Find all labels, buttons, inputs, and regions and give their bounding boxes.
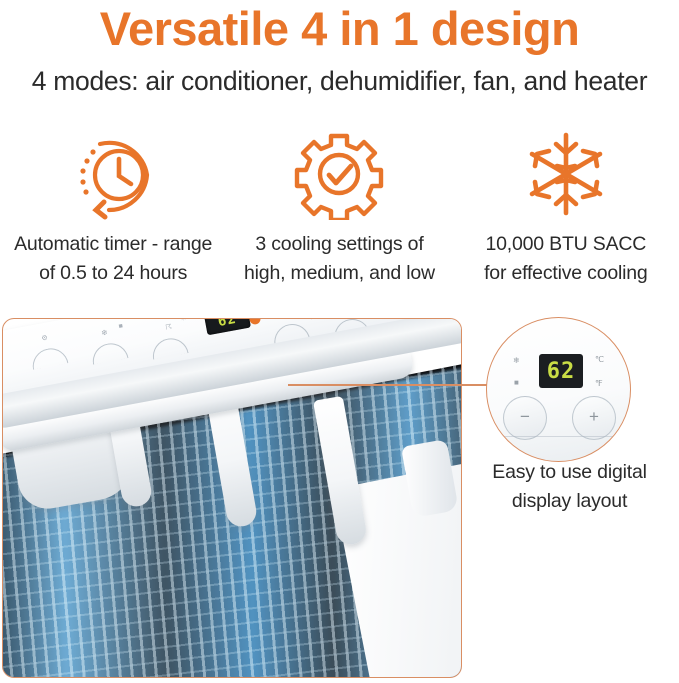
button-arc-2[interactable] — [90, 340, 129, 364]
decrease-button[interactable]: − — [503, 396, 547, 440]
square-indicator-icon: ■ — [514, 378, 519, 387]
page-title: Versatile 4 in 1 design — [0, 2, 679, 56]
clock-timer-icon — [67, 128, 159, 220]
feature-row: Automatic timer - range of 0.5 to 24 hou… — [0, 128, 679, 298]
product-feature-image: Versatile 4 in 1 design 4 modes: air con… — [0, 0, 679, 683]
mode-icon-2[interactable]: ❇ — [101, 330, 108, 338]
button-arc-3[interactable] — [150, 335, 189, 359]
unit-celsius-label: ℃ — [595, 355, 604, 364]
callout-display-value: 62 — [539, 354, 583, 388]
feature-timer: Automatic timer - range of 0.5 to 24 hou… — [0, 128, 226, 298]
feature-timer-caption: Automatic timer - range of 0.5 to 24 hou… — [14, 230, 212, 288]
callout-leader-line — [288, 384, 488, 386]
mode-icon-3[interactable]: ■ — [118, 323, 123, 331]
callout-led-display: 62 — [539, 354, 583, 388]
callout-caption: Easy to use digital display layout — [462, 458, 677, 516]
mode-icon-7[interactable]: ⚙ — [308, 319, 315, 322]
callout-magnifier: ❄ ■ 62 ℃ ℉ − + — [486, 317, 631, 462]
product-photo-panel: ⚙ ❇ ■ ☈ ☀ ❇ ⚙ ♨ ☂ ℃ 62 ⏻ — [2, 318, 462, 678]
led-display-value: 62 — [204, 319, 251, 335]
gear-check-icon — [293, 128, 385, 220]
increase-button[interactable]: + — [572, 396, 616, 440]
product-photo: ⚙ ❇ ■ ☈ ☀ ❇ ⚙ ♨ ☂ ℃ 62 ⏻ — [3, 319, 461, 677]
mode-icon-5[interactable]: ☀ — [180, 319, 187, 323]
page-subtitle: 4 modes: air conditioner, dehumidifier, … — [0, 64, 679, 98]
button-arc-1[interactable] — [30, 345, 69, 369]
feature-cooling-settings: 3 cooling settings of high, medium, and … — [226, 128, 452, 298]
snowflake-icon — [520, 128, 612, 220]
unit-fahrenheit-label: ℉ — [595, 379, 603, 388]
led-display: 62 — [204, 319, 251, 335]
callout-panel: ❄ ■ 62 ℃ ℉ − + — [487, 318, 630, 461]
snowflake-indicator-icon: ❄ — [513, 356, 520, 365]
mode-icon-1[interactable]: ⚙ — [41, 335, 48, 343]
panel-seam — [487, 436, 630, 437]
feature-btu-caption: 10,000 BTU SACC for effective cooling — [484, 230, 647, 288]
feature-btu: 10,000 BTU SACC for effective cooling — [453, 128, 679, 298]
mode-icon-4[interactable]: ☈ — [165, 324, 172, 332]
feature-cooling-caption: 3 cooling settings of high, medium, and … — [244, 230, 435, 288]
